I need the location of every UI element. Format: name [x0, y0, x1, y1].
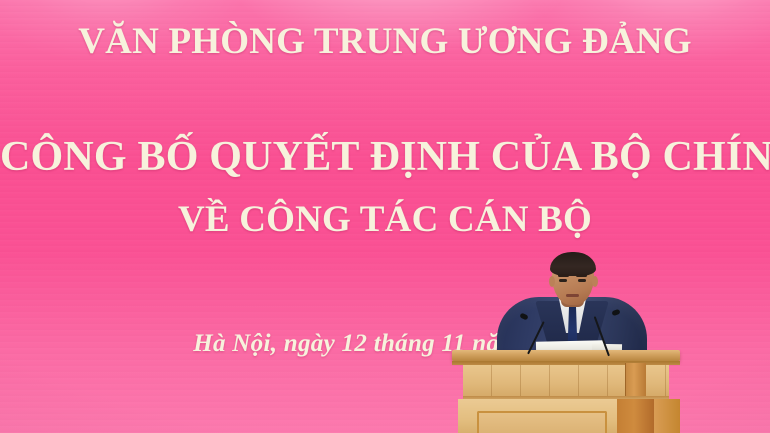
lectern-base-right-edge [654, 399, 680, 433]
screenshot-root: VĂN PHÒNG TRUNG ƯƠNG ĐẢNG CÔNG BỐ QUYẾT … [0, 0, 770, 433]
lectern-front-panel [477, 411, 607, 433]
lectern-top-surface [452, 350, 680, 361]
lectern-fluted-column [625, 363, 646, 399]
lectern-base-right-block [617, 399, 655, 433]
lectern [0, 0, 770, 433]
